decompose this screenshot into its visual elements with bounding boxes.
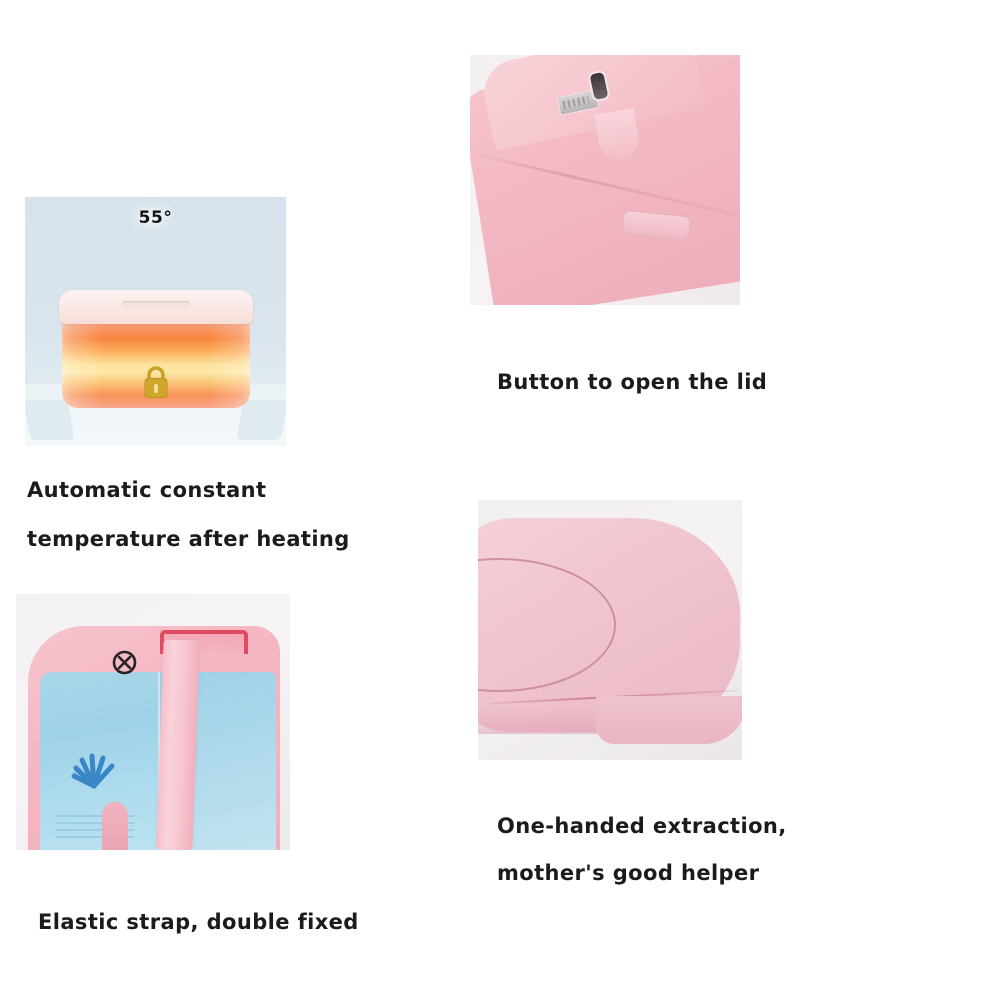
lock-icon <box>140 364 172 400</box>
caption-line: mother's good helper <box>497 850 787 897</box>
feature-caption-extraction: One-handed extraction, mother's good hel… <box>497 803 787 897</box>
elastic-strap[interactable] <box>156 639 199 850</box>
shell-notch <box>102 802 128 850</box>
caption-line: temperature after heating <box>27 515 350 564</box>
temperature-badge: 55° <box>25 208 286 228</box>
warmer-lid <box>59 290 253 324</box>
feature-caption-heating: Automatic constant temperature after hea… <box>27 466 350 564</box>
warmer-lid-slot <box>122 301 190 308</box>
screw-cross-icon <box>112 650 137 675</box>
feature-caption-button: Button to open the lid <box>497 360 767 404</box>
caption-line: Automatic constant <box>27 466 350 515</box>
caption-line: Elastic strap, double fixed <box>38 900 359 944</box>
caption-line: Button to open the lid <box>497 360 767 404</box>
feature-panel-extraction-image <box>478 500 742 760</box>
lid-side-wall <box>596 696 742 744</box>
feature-panel-heating-image: 55° <box>25 197 286 446</box>
caption-line: One-handed extraction, <box>497 803 787 850</box>
feature-panel-button-image <box>470 55 740 305</box>
fan-graphic-icon <box>62 742 126 806</box>
feature-caption-strap: Elastic strap, double fixed <box>38 900 359 944</box>
feature-panel-strap-image <box>16 594 290 850</box>
